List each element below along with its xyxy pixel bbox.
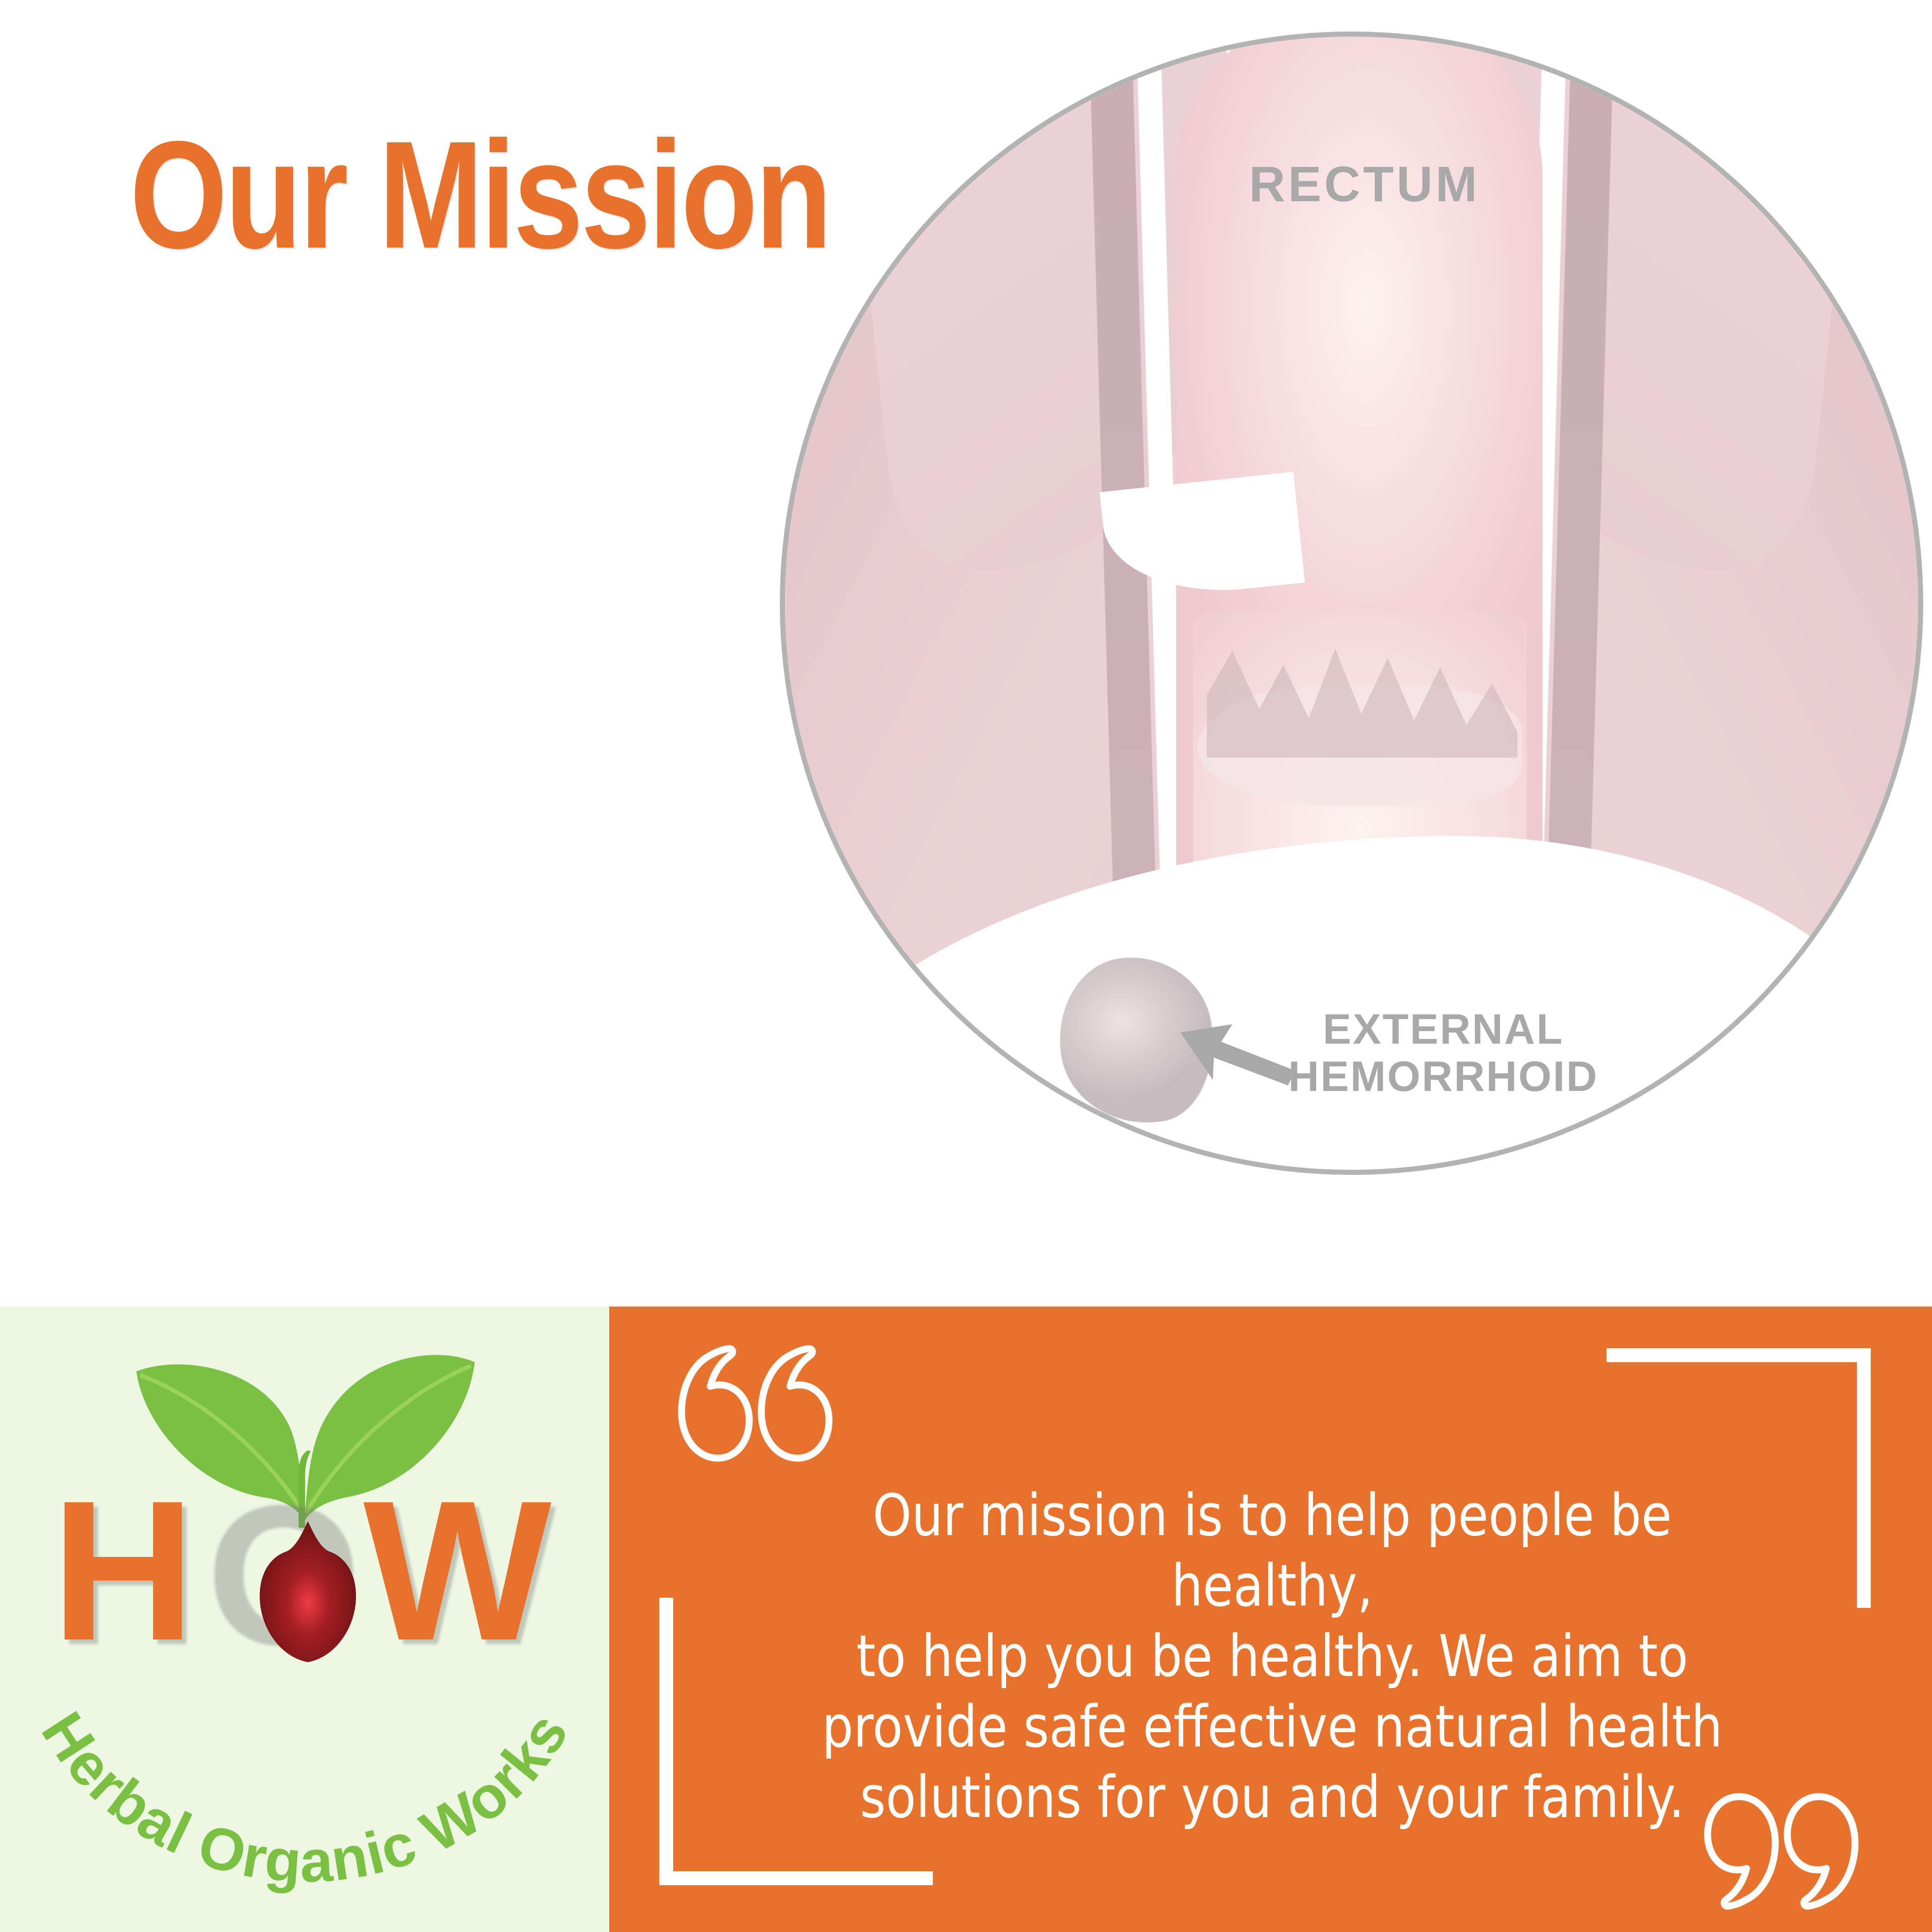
logo-tagline-text: Herbal Organic Works	[29, 1701, 581, 1895]
bottom-section: HOW Herba	[0, 1307, 1932, 1932]
anatomy-illustration: RECTUM EXTERNAL HEMORRHOID	[780, 32, 1923, 1175]
quote-open-icon	[674, 1341, 834, 1467]
label-external-hemorrhoid-line2: HEMORRHOID	[1281, 1053, 1606, 1100]
mission-statement: Our mission is to help people be healthy…	[770, 1480, 1774, 1833]
dentate-line-icon	[1205, 639, 1520, 792]
brand-logo[interactable]: HOW Herba	[0, 1307, 609, 1932]
mission-line-4: solutions for you and your family.	[770, 1762, 1774, 1833]
page-title: Our Mission	[130, 118, 830, 271]
arrow-pointer-icon	[1177, 1015, 1297, 1098]
mission-line-3: provide safe effective natural health	[770, 1692, 1774, 1762]
label-external-hemorrhoid: EXTERNAL HEMORRHOID	[1281, 1006, 1606, 1100]
label-rectum: RECTUM	[1216, 155, 1513, 213]
logo-tagline: Herbal Organic Works	[0, 1564, 620, 1930]
mission-line-2: to help you be healthy. We aim to	[770, 1621, 1774, 1692]
quote-panel: Our mission is to help people be healthy…	[609, 1307, 1932, 1932]
top-section: Our Mission	[0, 0, 1932, 1307]
mission-line-1: Our mission is to help people be healthy…	[770, 1480, 1774, 1621]
label-external-hemorrhoid-line1: EXTERNAL	[1281, 1006, 1606, 1053]
illustration-canvas: RECTUM EXTERNAL HEMORRHOID	[785, 37, 1918, 1170]
poster-root: Our Mission	[0, 0, 1932, 1932]
logo-panel: HOW Herba	[0, 1307, 609, 1932]
